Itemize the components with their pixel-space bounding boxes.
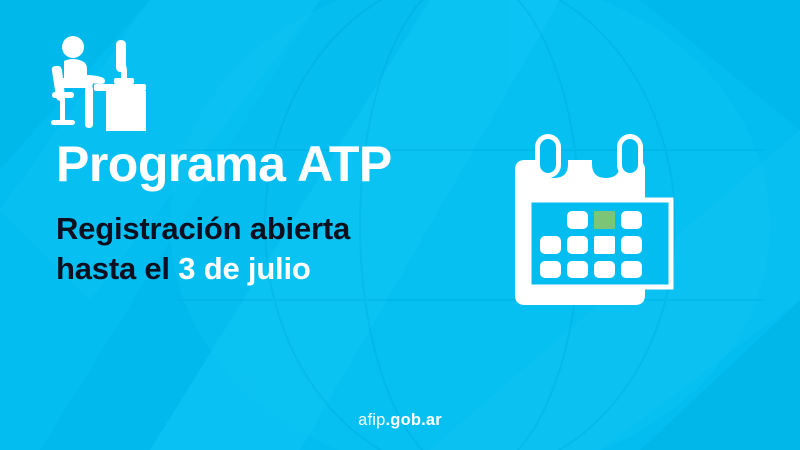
brand-name: afip [358, 411, 385, 429]
calendar-day-cell [567, 211, 588, 229]
calendar-day-cell [621, 236, 642, 254]
calendar-day-cell [621, 211, 642, 229]
calendar-day-cell [540, 261, 561, 278]
calendar-day-cell-highlighted [594, 211, 615, 229]
afip-promo-banner: Programa ATP Registración abierta hasta … [0, 0, 800, 450]
subtitle-line-1: Registración abierta [56, 211, 350, 246]
deadline-date: 3 de julio [178, 251, 310, 286]
calendar-ring-left-hole [540, 139, 556, 173]
headline-block: Programa ATP Registración abierta hasta … [56, 138, 476, 288]
calendar-day-cell [567, 236, 588, 254]
subtitle-line-2-prefix: hasta el [56, 251, 178, 286]
calendar-day-cell [540, 236, 561, 254]
calendar-day-cell [594, 261, 615, 278]
calendar-day-cell [567, 261, 588, 278]
calendar-ring-right-hole [622, 139, 638, 173]
subtitle: Registración abierta hasta el 3 de julio [56, 191, 476, 288]
footer-brand: afip.gob.ar [0, 411, 800, 430]
person-at-desk-icon [48, 34, 152, 132]
calendar-day-cell [594, 236, 615, 254]
calendar-icon [505, 132, 695, 312]
page-title: Programa ATP [56, 138, 476, 191]
calendar-day-row-1 [567, 211, 642, 229]
brand-domain: .gob.ar [386, 411, 442, 429]
calendar-day-cell [621, 261, 642, 278]
